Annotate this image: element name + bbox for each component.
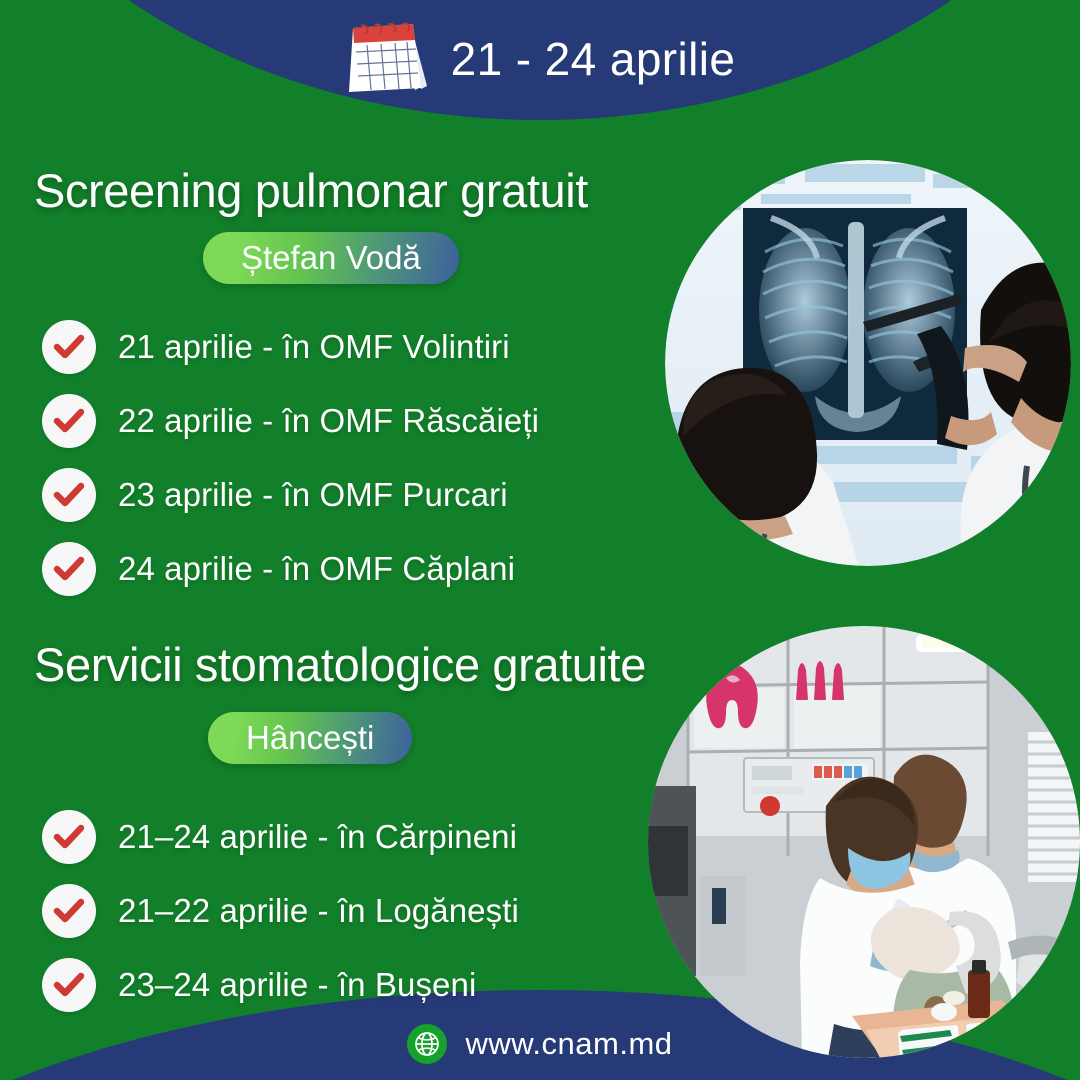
- list-item: 21–24 aprilie - în Cărpineni: [42, 800, 519, 874]
- check-icon: [42, 884, 96, 938]
- list-item: 22 aprilie - în OMF Răscăieți: [42, 384, 539, 458]
- list-item: 21–22 aprilie - în Logănești: [42, 874, 519, 948]
- check-icon: [42, 468, 96, 522]
- list-item-label: 21–24 aprilie - în Cărpineni: [118, 818, 517, 856]
- calendar-icon: [345, 22, 431, 96]
- header-date-range: 21 - 24 aprilie: [451, 32, 736, 86]
- list-item: 21 aprilie - în OMF Volintiri: [42, 310, 539, 384]
- locality-badge-label: Hâncești: [246, 719, 374, 757]
- check-icon: [42, 958, 96, 1012]
- list-item-label: 22 aprilie - în OMF Răscăieți: [118, 402, 539, 440]
- list-item-label: 21–22 aprilie - în Logănești: [118, 892, 519, 930]
- footer-bar: www.cnam.md: [0, 1024, 1080, 1064]
- list-item: 24 aprilie - în OMF Căplani: [42, 532, 539, 606]
- section-title-screening: Screening pulmonar gratuit: [34, 163, 588, 218]
- check-icon: [42, 542, 96, 596]
- section-title-dental: Servicii stomatologice gratuite: [34, 637, 646, 692]
- list-item: 23–24 aprilie - în Bușeni: [42, 948, 519, 1022]
- dental-clinic-photo: [648, 626, 1080, 1058]
- list-item-label: 23 aprilie - în OMF Purcari: [118, 476, 508, 514]
- list-item-label: 24 aprilie - în OMF Căplani: [118, 550, 515, 588]
- check-icon: [42, 394, 96, 448]
- header-bar: 21 - 24 aprilie: [0, 0, 1080, 118]
- poster-canvas: 21 - 24 aprilie: [0, 0, 1080, 1080]
- dental-schedule-list: 21–24 aprilie - în Cărpineni 21–22 april…: [42, 800, 519, 1022]
- screening-schedule-list: 21 aprilie - în OMF Volintiri 22 aprilie…: [42, 310, 539, 606]
- locality-badge-hancesti: Hâncești: [208, 712, 412, 764]
- list-item: 23 aprilie - în OMF Purcari: [42, 458, 539, 532]
- chest-xray-photo: [665, 160, 1071, 566]
- list-item-label: 21 aprilie - în OMF Volintiri: [118, 328, 510, 366]
- locality-badge-label: Ștefan Vodă: [241, 239, 421, 277]
- list-item-label: 23–24 aprilie - în Bușeni: [118, 966, 476, 1004]
- globe-icon: [407, 1024, 447, 1064]
- locality-badge-stefan-voda: Ștefan Vodă: [203, 232, 459, 284]
- website-url[interactable]: www.cnam.md: [465, 1026, 672, 1062]
- check-icon: [42, 810, 96, 864]
- check-icon: [42, 320, 96, 374]
